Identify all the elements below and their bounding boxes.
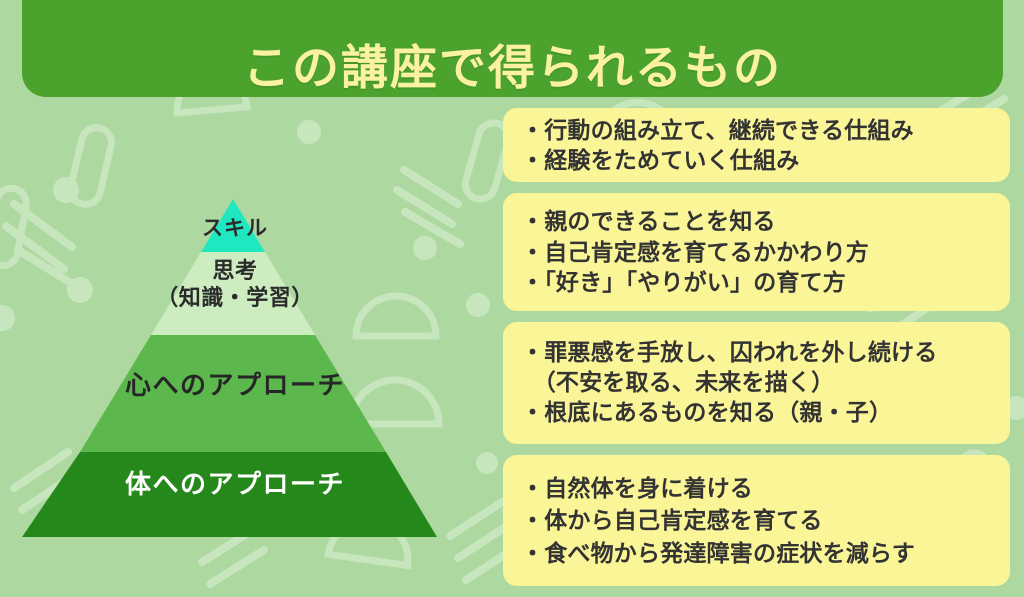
- callout-text: ・根底にあるものを知る（親・子）: [503, 398, 1010, 428]
- slide-canvas: この講座で得られるもの スキル 思考 （知識・学習） 心へのアプローチ 体へのア…: [0, 0, 1024, 597]
- pyramid-tier-think[interactable]: [151, 252, 315, 335]
- callout-text: ・「好き」「やりがい」の育て方: [503, 267, 1010, 297]
- callout-box-think[interactable]: ・親のできることを知る ・自己肯定感を育てるかかわり方 ・「好き」「やりがい」の…: [503, 193, 1010, 311]
- callout-text: ・行動の組み立て、継続できる仕組み: [503, 115, 1010, 145]
- callout-text: ・経験をためていく仕組み: [503, 145, 1010, 175]
- pyramid-tier-heart[interactable]: [80, 335, 386, 452]
- pyramid-tier-body[interactable]: [22, 452, 437, 537]
- callout-text: ・親のできることを知る: [503, 206, 1010, 236]
- callout-text: （不安を取る、未来を描く）: [503, 368, 1010, 398]
- callout-text: ・食べ物から発達障害の症状を減らす: [503, 537, 1010, 570]
- callout-text: ・体から自己肯定感を育てる: [503, 504, 1010, 537]
- pyramid-diagram: スキル 思考 （知識・学習） 心へのアプローチ 体へのアプローチ: [0, 0, 470, 597]
- pyramid-tier-skill[interactable]: [201, 199, 265, 252]
- pyramid-shape: [0, 0, 470, 597]
- callout-box-heart[interactable]: ・罪悪感を手放し、囚われを外し続ける （不安を取る、未来を描く） ・根底にあるも…: [503, 322, 1010, 444]
- callout-box-skill[interactable]: ・行動の組み立て、継続できる仕組み ・経験をためていく仕組み: [503, 108, 1010, 182]
- callout-text: ・自己肯定感を育てるかかわり方: [503, 237, 1010, 267]
- callout-text: ・自然体を身に着ける: [503, 472, 1010, 505]
- callout-box-body[interactable]: ・自然体を身に着ける ・体から自己肯定感を育てる ・食べ物から発達障害の症状を減…: [503, 455, 1010, 586]
- callout-text: ・罪悪感を手放し、囚われを外し続ける: [503, 338, 1010, 368]
